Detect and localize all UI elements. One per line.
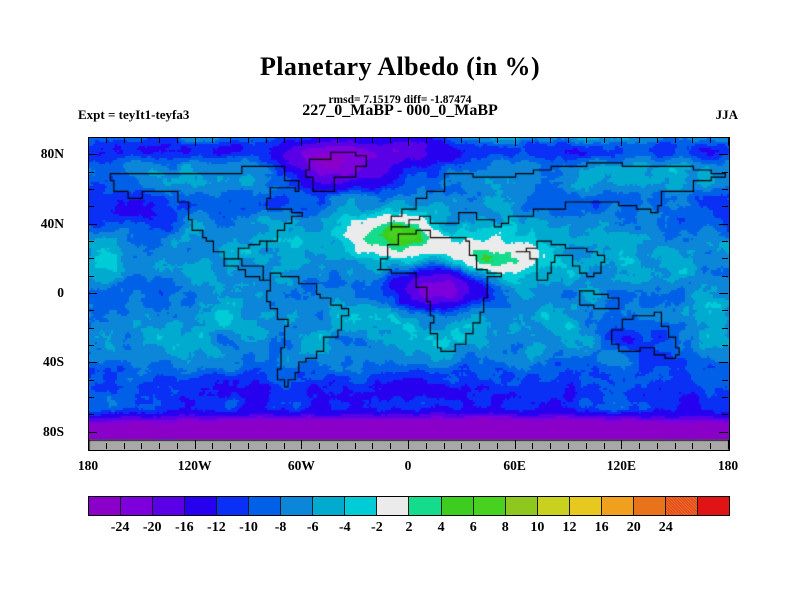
x-axis-label-120E: 120E [607, 458, 636, 474]
x-tick--120 [195, 440, 196, 449]
colorbar-tick--16: -16 [175, 520, 194, 536]
y-axis-label-0: 0 [4, 285, 64, 301]
x-tick--130 [177, 443, 178, 449]
colorbar-tick-10: 10 [530, 520, 544, 536]
colorbar-tick-20: 20 [627, 520, 641, 536]
x-tick-50 [497, 137, 498, 143]
colorbar-band-10 [409, 497, 441, 515]
x-tick--180 [88, 137, 89, 146]
albedo-anomaly-heatmap [89, 138, 729, 450]
colorbar-band-16 [602, 497, 634, 515]
y-tick-70 [722, 172, 728, 173]
x-tick--70 [284, 137, 285, 143]
x-tick-140 [657, 443, 658, 449]
colorbar-swatches [88, 496, 730, 516]
y-tick--80 [719, 432, 728, 433]
x-tick--150 [141, 443, 142, 449]
x-tick--10 [390, 443, 391, 449]
x-tick-180 [728, 440, 729, 449]
y-tick-50 [88, 206, 94, 207]
x-tick-90 [568, 137, 569, 143]
x-tick--80 [266, 137, 267, 143]
x-tick--100 [230, 443, 231, 449]
colorbar-band-12 [474, 497, 506, 515]
x-tick--20 [372, 137, 373, 143]
x-tick--150 [141, 137, 142, 143]
colorbar-tick--24: -24 [111, 520, 130, 536]
page-title: Planetary Albedo (in %) [0, 52, 800, 82]
x-axis-label-60W: 60W [288, 458, 315, 474]
colorbar-band-1 [121, 497, 153, 515]
x-tick--160 [124, 137, 125, 143]
x-tick-130 [639, 443, 640, 449]
y-tick--50 [722, 380, 728, 381]
y-tick--10 [88, 310, 94, 311]
x-tick-140 [657, 137, 658, 143]
x-tick--10 [390, 137, 391, 143]
x-tick--110 [212, 443, 213, 449]
x-tick--170 [106, 443, 107, 449]
x-axis-label-0: 0 [405, 458, 412, 474]
colorbar-tick-labels: -24-20-16-12-10-8-6-4-224681012162024 [88, 520, 730, 542]
y-tick--60 [88, 397, 94, 398]
colorbar-tick-12: 12 [563, 520, 577, 536]
colorbar-tick-8: 8 [502, 520, 509, 536]
x-tick-70 [532, 137, 533, 143]
colorbar-band-7 [313, 497, 345, 515]
x-tick--40 [337, 443, 338, 449]
x-axis-label-180: 180 [78, 458, 98, 474]
x-tick--100 [230, 137, 231, 143]
y-tick--70 [88, 414, 94, 415]
y-tick--20 [88, 328, 94, 329]
x-tick-130 [639, 137, 640, 143]
colorbar-band-6 [281, 497, 313, 515]
x-tick-40 [479, 443, 480, 449]
experiment-label: Expt = teyIt1-teyfa3 [78, 107, 189, 123]
colorbar-band-3 [185, 497, 217, 515]
x-tick-90 [568, 443, 569, 449]
colorbar-tick-24: 24 [659, 520, 673, 536]
x-tick-0 [408, 440, 409, 449]
x-tick--80 [266, 443, 267, 449]
map-plot-area [88, 137, 730, 451]
colorbar-tick-2: 2 [406, 520, 413, 536]
figure-page: Planetary Albedo (in %) rmsd= 7.15179 di… [0, 0, 800, 600]
colorbar-tick--6: -6 [307, 520, 319, 536]
x-tick-10 [426, 443, 427, 449]
x-tick--50 [319, 443, 320, 449]
colorbar-tick--2: -2 [371, 520, 383, 536]
colorbar-band-4 [217, 497, 249, 515]
x-tick-110 [604, 137, 605, 143]
x-tick--60 [301, 137, 302, 146]
colorbar-band-18 [666, 497, 698, 515]
x-tick--40 [337, 137, 338, 143]
colorbar-band-0 [89, 497, 121, 515]
y-tick--40 [719, 362, 728, 363]
x-tick-150 [675, 443, 676, 449]
x-tick-100 [586, 137, 587, 143]
y-tick-20 [722, 258, 728, 259]
x-tick--180 [88, 440, 89, 449]
colorbar: -24-20-16-12-10-8-6-4-224681012162024 [88, 496, 730, 516]
x-tick--140 [159, 443, 160, 449]
x-tick-160 [692, 137, 693, 143]
x-tick-160 [692, 443, 693, 449]
colorbar-tick--4: -4 [339, 520, 351, 536]
y-tick--80 [88, 432, 97, 433]
x-tick-80 [550, 137, 551, 143]
colorbar-tick--12: -12 [207, 520, 226, 536]
x-tick--30 [355, 137, 356, 143]
colorbar-band-9 [377, 497, 409, 515]
y-tick--20 [722, 328, 728, 329]
y-tick-30 [88, 241, 94, 242]
x-tick-150 [675, 137, 676, 143]
y-tick-20 [88, 258, 94, 259]
x-axis-label-180: 180 [718, 458, 738, 474]
colorbar-tick-4: 4 [438, 520, 445, 536]
y-tick-30 [722, 241, 728, 242]
x-tick-170 [710, 443, 711, 449]
y-tick-40 [719, 224, 728, 225]
y-tick-80 [88, 154, 97, 155]
x-tick--60 [301, 440, 302, 449]
x-axis-label-120W: 120W [178, 458, 212, 474]
x-tick-30 [461, 137, 462, 143]
colorbar-tick--20: -20 [143, 520, 162, 536]
x-tick--130 [177, 137, 178, 143]
colorbar-band-15 [570, 497, 602, 515]
x-tick-70 [532, 443, 533, 449]
x-tick-120 [621, 440, 622, 449]
x-tick--120 [195, 137, 196, 146]
x-tick--20 [372, 443, 373, 449]
x-tick--70 [284, 443, 285, 449]
y-tick--10 [722, 310, 728, 311]
colorbar-tick-16: 16 [595, 520, 609, 536]
y-axis-label-80S: 80S [4, 424, 64, 440]
colorbar-tick-6: 6 [470, 520, 477, 536]
x-tick--30 [355, 443, 356, 449]
x-tick--110 [212, 137, 213, 143]
y-tick--30 [722, 345, 728, 346]
season-label: JJA [716, 107, 738, 123]
x-tick-80 [550, 443, 551, 449]
colorbar-band-2 [153, 497, 185, 515]
y-tick-70 [88, 172, 94, 173]
y-tick-10 [88, 276, 94, 277]
x-tick--170 [106, 137, 107, 143]
colorbar-tick--10: -10 [239, 520, 258, 536]
y-tick-60 [722, 189, 728, 190]
colorbar-band-5 [249, 497, 281, 515]
x-tick-30 [461, 443, 462, 449]
y-tick--50 [88, 380, 94, 381]
x-tick--140 [159, 137, 160, 143]
y-tick--60 [722, 397, 728, 398]
y-tick--40 [88, 362, 97, 363]
y-tick-0 [88, 293, 97, 294]
x-tick-20 [444, 443, 445, 449]
x-tick-40 [479, 137, 480, 143]
colorbar-band-13 [506, 497, 538, 515]
x-axis-label-60E: 60E [503, 458, 526, 474]
y-tick-50 [722, 206, 728, 207]
y-tick-0 [719, 293, 728, 294]
colorbar-band-17 [634, 497, 666, 515]
y-tick-10 [722, 276, 728, 277]
x-tick--90 [248, 443, 249, 449]
x-tick-0 [408, 137, 409, 146]
y-axis-label-80N: 80N [4, 146, 64, 162]
colorbar-band-14 [538, 497, 570, 515]
y-tick--70 [722, 414, 728, 415]
x-tick-20 [444, 137, 445, 143]
y-axis-label-40S: 40S [4, 354, 64, 370]
x-tick--90 [248, 137, 249, 143]
x-tick-170 [710, 137, 711, 143]
x-tick-120 [621, 137, 622, 146]
y-tick-40 [88, 224, 97, 225]
colorbar-band-19 [698, 497, 729, 515]
x-tick-10 [426, 137, 427, 143]
y-tick--30 [88, 345, 94, 346]
y-tick-60 [88, 189, 94, 190]
x-tick-110 [604, 443, 605, 449]
x-tick-60 [515, 440, 516, 449]
x-tick-60 [515, 137, 516, 146]
x-tick-100 [586, 443, 587, 449]
y-tick-80 [719, 154, 728, 155]
colorbar-band-8 [345, 497, 377, 515]
y-axis-label-40N: 40N [4, 216, 64, 232]
x-tick--160 [124, 443, 125, 449]
colorbar-band-11 [442, 497, 474, 515]
x-tick-180 [728, 137, 729, 146]
colorbar-tick--8: -8 [275, 520, 287, 536]
x-tick--50 [319, 137, 320, 143]
x-tick-50 [497, 443, 498, 449]
